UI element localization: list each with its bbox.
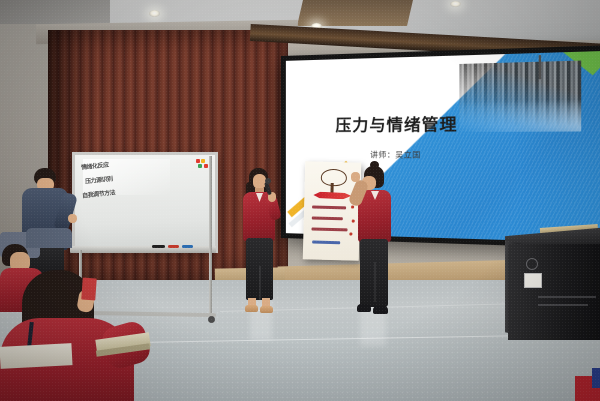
downlight-icon xyxy=(450,1,461,7)
magnet-icon[interactable] xyxy=(201,159,205,163)
poster-tree-icon xyxy=(321,169,347,187)
audience-red-card xyxy=(81,278,97,301)
marker-icon[interactable] xyxy=(168,245,179,248)
presenter-right-hand xyxy=(351,172,360,182)
podium-name-card xyxy=(524,273,542,288)
poster-signature-line xyxy=(312,240,340,243)
podium-logo-icon xyxy=(526,258,538,270)
presenter-right-hair-bun xyxy=(370,161,379,169)
classroom-photo: 压力与情绪管理 讲师：吴立国 情绪化反应 压力源识别 自我调节方法 xyxy=(0,0,600,401)
foreground-blue-object xyxy=(592,368,600,388)
poster-dot xyxy=(349,232,352,235)
presenter-left-shoe xyxy=(245,305,258,312)
magnet-icon[interactable] xyxy=(198,164,202,168)
poster-dot xyxy=(352,220,355,223)
trouser-crease xyxy=(259,266,261,300)
downlight-icon xyxy=(149,10,160,17)
poster-swoosh-icon xyxy=(313,192,351,200)
audience-far-shoulder xyxy=(26,228,72,248)
whiteboard-text: 自我调节方法 xyxy=(82,187,116,199)
poster-dot xyxy=(351,205,354,208)
poster-text-line xyxy=(312,216,343,219)
slide-subtitle: 讲师：吴立国 xyxy=(309,149,486,161)
whiteboard-stand-post xyxy=(209,156,212,316)
podium-detail xyxy=(538,304,588,306)
poster-text-line xyxy=(312,205,346,208)
desk xyxy=(0,343,73,369)
presenter-right-shoe xyxy=(357,304,371,312)
presenter-left-shoe xyxy=(260,306,273,313)
podium-detail xyxy=(538,296,596,298)
whiteboard[interactable]: 情绪化反应 压力源识别 自我调节方法 xyxy=(72,152,218,253)
trouser-crease xyxy=(374,262,376,302)
magnet-icon[interactable] xyxy=(204,164,208,168)
slide-city-spire xyxy=(539,55,541,79)
microphone-head-icon xyxy=(265,178,271,184)
marker-icon[interactable] xyxy=(182,245,193,248)
writer-hand xyxy=(68,214,77,223)
podium[interactable] xyxy=(508,244,600,340)
magnet-icon[interactable] xyxy=(196,159,200,163)
slide-title: 压力与情绪管理 xyxy=(309,112,486,136)
presenter-right-shoe xyxy=(373,306,388,314)
whiteboard-marker-tray xyxy=(70,246,216,253)
caster-wheel-icon xyxy=(208,316,215,323)
poster-text-line xyxy=(311,227,347,230)
marker-icon[interactable] xyxy=(152,245,165,248)
